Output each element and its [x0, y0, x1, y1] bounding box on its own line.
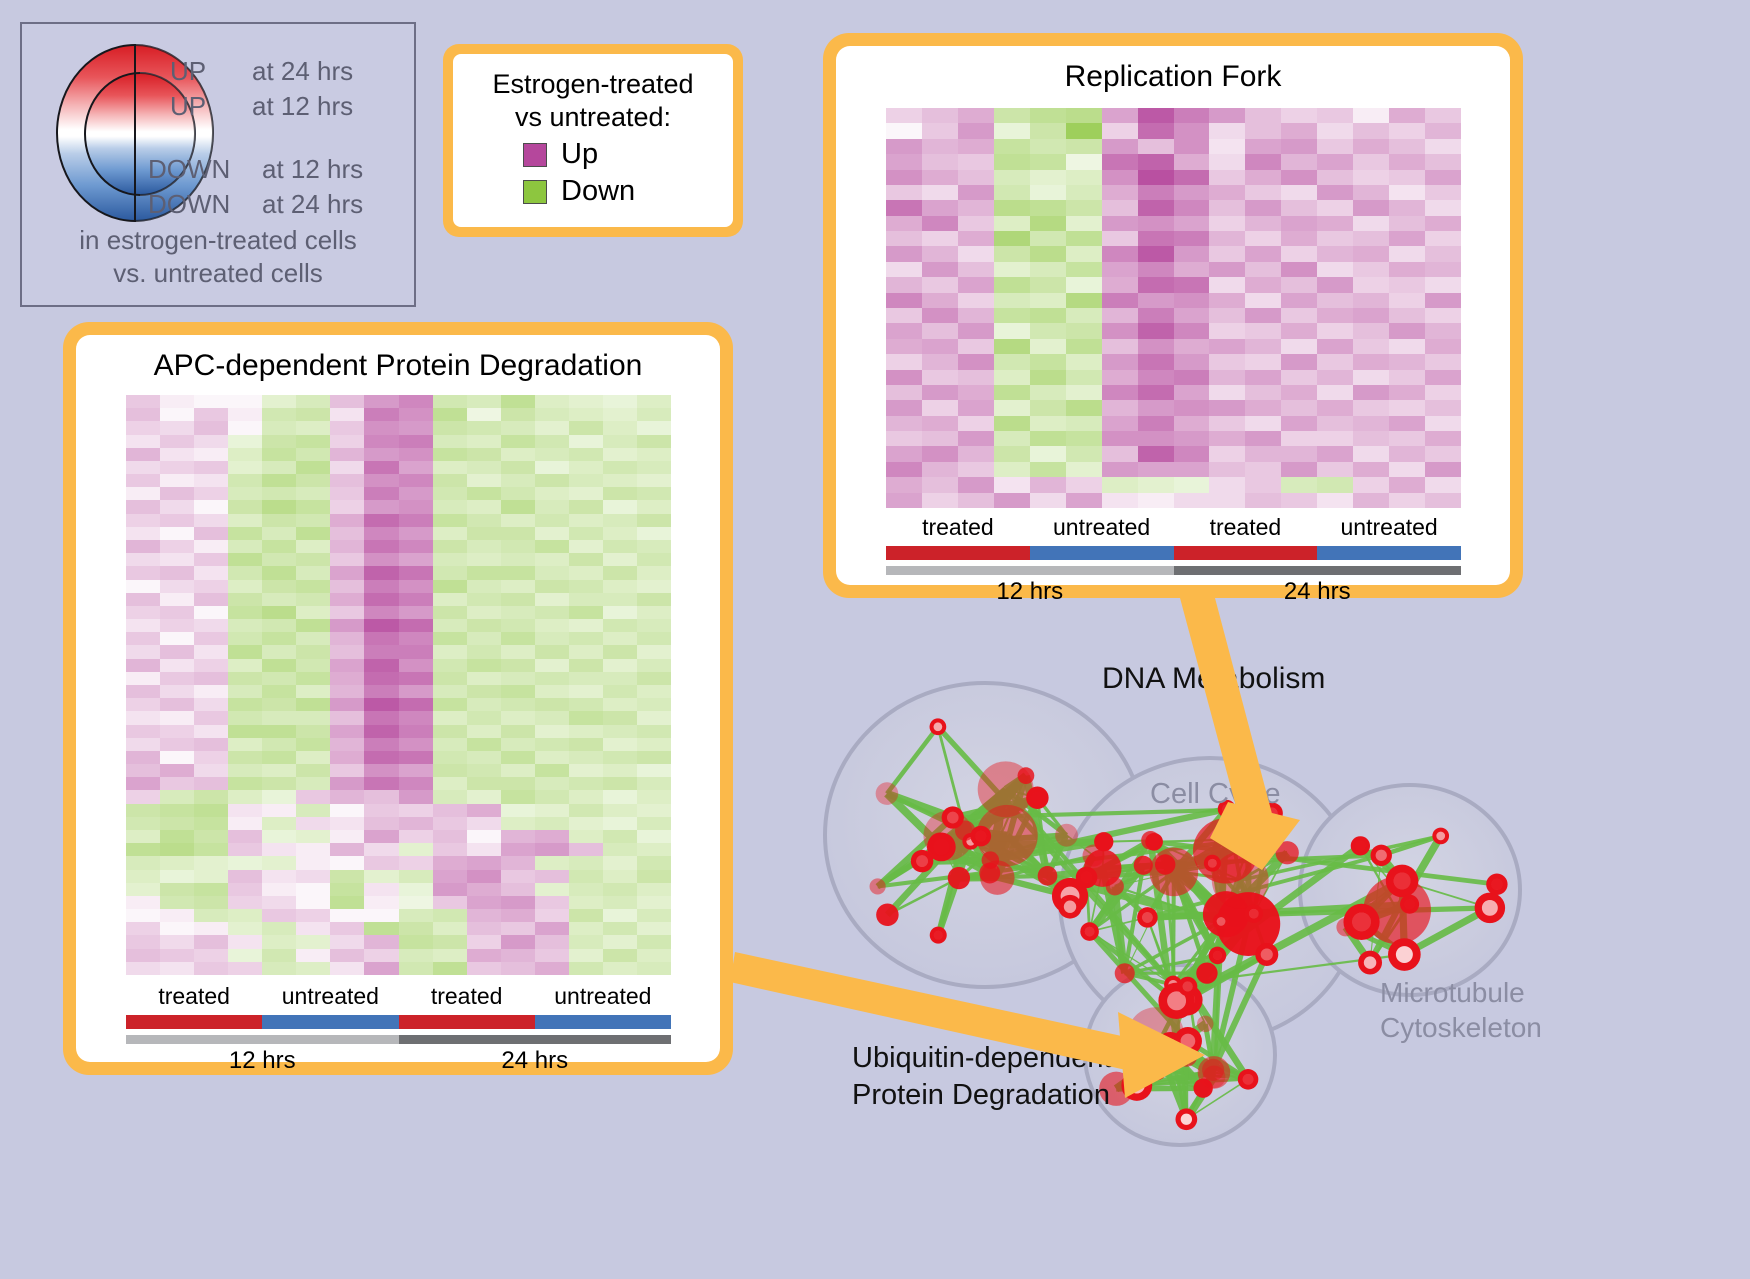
heatmap-cell — [886, 154, 922, 169]
heatmap-cell — [1389, 246, 1425, 261]
heatmap-cell — [399, 606, 433, 619]
heatmap-cell — [126, 698, 160, 711]
heatmap-cell — [126, 738, 160, 751]
heatmap-cell — [262, 922, 296, 935]
heatmap-cell — [994, 385, 1030, 400]
heatmap-cell — [330, 883, 364, 896]
heatmap-cell — [160, 580, 194, 593]
heatmap-cell — [262, 408, 296, 421]
heatmap-cell — [126, 527, 160, 540]
heatmap-cell — [1317, 246, 1353, 261]
heatmap-cell — [228, 448, 262, 461]
heatmap-cell — [228, 540, 262, 553]
heatmap-cell — [1138, 293, 1174, 308]
heatmap-cell — [296, 870, 330, 883]
heatmap-cell — [160, 883, 194, 896]
heatmap-cell — [194, 645, 228, 658]
heatmap-cell — [399, 856, 433, 869]
heatmap-cell — [296, 856, 330, 869]
heatmap-cell — [886, 385, 922, 400]
heatmap-cell — [1281, 139, 1317, 154]
heatmap-cell — [637, 909, 671, 922]
heatmap-cell — [569, 474, 603, 487]
heatmap-cell — [603, 566, 637, 579]
heatmap-cell — [1030, 231, 1066, 246]
heatmap-cell — [1281, 123, 1317, 138]
heatmap-cell — [1281, 493, 1317, 508]
heatmap-cell — [603, 725, 637, 738]
heatmap-cell — [1281, 370, 1317, 385]
heatmap-cell — [399, 711, 433, 724]
network-node — [1038, 866, 1058, 886]
heatmap-cell — [1030, 354, 1066, 369]
heatmap-cell — [296, 764, 330, 777]
cluster-label-ubiquitin: Ubiquitin-dependent Protein Degradation — [852, 1040, 1112, 1114]
heatmap-cell — [228, 645, 262, 658]
heatmap-cell — [922, 170, 958, 185]
network-node — [1212, 852, 1269, 909]
heatmap-cell — [1102, 308, 1138, 323]
heatmap-cell — [364, 764, 398, 777]
updown-legend-title: Estrogen-treated vs untreated: — [463, 68, 723, 134]
heatmap-cell — [262, 500, 296, 513]
heatmap-cell — [330, 870, 364, 883]
heatmap-cell — [569, 751, 603, 764]
heatmap-cell — [922, 446, 958, 461]
heatmap-cell — [228, 764, 262, 777]
heatmap-cell — [228, 935, 262, 948]
network-node — [1150, 1040, 1167, 1057]
heatmap-cell — [535, 870, 569, 883]
heatmap-cell — [637, 751, 671, 764]
heatmap-cell — [160, 461, 194, 474]
heatmap-cell — [501, 672, 535, 685]
heatmap-cell — [228, 500, 262, 513]
heatmap-cell — [603, 606, 637, 619]
heatmap-cell — [637, 527, 671, 540]
heatmap-cell — [262, 777, 296, 790]
heatmap-cell — [126, 645, 160, 658]
heatmap-cell — [1102, 139, 1138, 154]
network-node — [1276, 841, 1299, 864]
heatmap-cell — [262, 698, 296, 711]
heatmap-cell — [1245, 262, 1281, 277]
heatmap-cell — [1389, 339, 1425, 354]
heatmap-cell — [399, 619, 433, 632]
heatmap-cell — [330, 645, 364, 658]
heatmap-cell — [194, 474, 228, 487]
heatmap-cell — [922, 308, 958, 323]
heatmap-cell — [296, 830, 330, 843]
heatmap-cell — [1353, 108, 1389, 123]
network-node — [1394, 872, 1411, 889]
heatmap-cell — [994, 123, 1030, 138]
heatmap-cell — [1138, 262, 1174, 277]
heatmap-cell — [958, 354, 994, 369]
heatmap-cell — [433, 593, 467, 606]
heatmap-cell — [126, 935, 160, 948]
heatmap-cell — [501, 540, 535, 553]
heatmap-cell — [501, 514, 535, 527]
heatmap-cell — [126, 659, 160, 672]
heatmap-cell — [637, 856, 671, 869]
heatmap-cell — [1138, 370, 1174, 385]
heatmap-cell — [535, 553, 569, 566]
heatmap-cell — [1209, 416, 1245, 431]
heatmap-cell — [467, 698, 501, 711]
heatmap-cell — [194, 540, 228, 553]
heatmap-cell — [1102, 339, 1138, 354]
heatmap-cell — [1030, 170, 1066, 185]
heatmap-cell — [637, 698, 671, 711]
heatmap-cell — [1281, 308, 1317, 323]
heatmap-cell — [1317, 354, 1353, 369]
heatmap-cell — [886, 354, 922, 369]
heatmap-cell — [194, 672, 228, 685]
heatmap-cell — [569, 870, 603, 883]
heatmap-cell — [228, 461, 262, 474]
heatmap-cell — [228, 949, 262, 962]
heatmap-cell — [958, 370, 994, 385]
network-node — [1482, 900, 1498, 916]
heatmap-cell — [886, 108, 922, 123]
heatmap-cell — [535, 935, 569, 948]
heatmap-cell — [637, 883, 671, 896]
network-node — [1151, 1065, 1162, 1076]
heatmap-cell — [501, 751, 535, 764]
heatmap-cell — [886, 277, 922, 292]
heatmap-cell — [399, 408, 433, 421]
heatmap-cell — [126, 804, 160, 817]
heatmap-cell — [994, 200, 1030, 215]
heatmap-cell — [467, 711, 501, 724]
heatmap-cell — [296, 606, 330, 619]
heatmap-cell — [1281, 108, 1317, 123]
heatmap-cell — [228, 909, 262, 922]
heatmap-cell — [637, 606, 671, 619]
heatmap-cell — [501, 725, 535, 738]
heatmap-cell — [364, 461, 398, 474]
heatmap-cell — [262, 935, 296, 948]
heatmap-cell — [296, 909, 330, 922]
heatmap-cell — [1174, 200, 1210, 215]
heatmap-cell — [399, 883, 433, 896]
heatmap-cell — [126, 790, 160, 803]
heatmap-cell — [1389, 277, 1425, 292]
heatmap-cell — [501, 935, 535, 948]
heatmap-cell — [1425, 262, 1461, 277]
heatmap-cell — [160, 632, 194, 645]
heatmap-cell — [330, 395, 364, 408]
heatmap-cell — [262, 896, 296, 909]
heatmap-cell — [433, 659, 467, 672]
network-node — [1094, 832, 1113, 851]
heatmap-cell — [994, 400, 1030, 415]
heatmap-cell — [364, 790, 398, 803]
heatmap-cell — [126, 395, 160, 408]
heatmap-cell — [501, 448, 535, 461]
heatmap-cell — [160, 764, 194, 777]
heatmap-cell — [262, 856, 296, 869]
heatmap-cell — [637, 922, 671, 935]
heatmap-cell — [1102, 354, 1138, 369]
heatmap-cell — [1138, 385, 1174, 400]
heatmap-cell — [1102, 277, 1138, 292]
heatmap-cell — [262, 949, 296, 962]
heatmap-cell — [1138, 123, 1174, 138]
replication-fork-treatment-bar — [886, 546, 1461, 560]
heatmap-cell — [1425, 154, 1461, 169]
heatmap-cell — [126, 448, 160, 461]
heatmap-cell — [126, 500, 160, 513]
heatmap-cell — [126, 606, 160, 619]
heatmap-cell — [399, 804, 433, 817]
heatmap-cell — [501, 764, 535, 777]
heatmap-cell — [994, 246, 1030, 261]
heatmap-cell — [126, 632, 160, 645]
heatmap-cell — [501, 856, 535, 869]
heatmap-cell — [569, 540, 603, 553]
heatmap-cell — [1209, 477, 1245, 492]
network-node — [928, 832, 952, 856]
heatmap-cell — [1317, 123, 1353, 138]
heatmap-cell — [535, 566, 569, 579]
heatmap-cell — [296, 580, 330, 593]
heatmap-cell — [467, 645, 501, 658]
heatmap-cell — [160, 843, 194, 856]
heatmap-cell — [1209, 385, 1245, 400]
heatmap-cell — [637, 830, 671, 843]
heatmap-cell — [364, 448, 398, 461]
heatmap-cell — [330, 922, 364, 935]
heatmap-cell — [886, 139, 922, 154]
heatmap-cell — [1317, 154, 1353, 169]
heatmap-cell — [194, 804, 228, 817]
heatmap-cell — [399, 500, 433, 513]
heatmap-cell — [1353, 462, 1389, 477]
heatmap-cell — [637, 487, 671, 500]
heatmap-cell — [296, 448, 330, 461]
heatmap-cell — [922, 400, 958, 415]
heatmap-cell — [535, 672, 569, 685]
heatmap-cell — [603, 738, 637, 751]
network-node — [916, 855, 928, 867]
heatmap-cell — [569, 962, 603, 975]
heatmap-cell — [364, 962, 398, 975]
heatmap-cell — [194, 751, 228, 764]
heatmap-cell — [1389, 185, 1425, 200]
heatmap-cell — [1353, 370, 1389, 385]
heatmap-cell — [194, 566, 228, 579]
heatmap-cell — [1389, 446, 1425, 461]
heatmap-cell — [958, 431, 994, 446]
heatmap-cell — [433, 500, 467, 513]
heatmap-cell — [603, 817, 637, 830]
updown-title-line2: vs untreated: — [463, 101, 723, 134]
heatmap-cell — [1425, 416, 1461, 431]
heatmap-cell — [194, 461, 228, 474]
heatmap-cell — [467, 619, 501, 632]
heatmap-cell — [1317, 185, 1353, 200]
heatmap-cell — [330, 514, 364, 527]
heatmap-cell — [1353, 216, 1389, 231]
heatmap-cell — [535, 777, 569, 790]
heatmap-cell — [958, 154, 994, 169]
heatmap-cell — [296, 738, 330, 751]
heatmap-cell — [1174, 416, 1210, 431]
heatmap-cell — [958, 108, 994, 123]
heatmap-cell — [160, 738, 194, 751]
heatmap-cell — [194, 619, 228, 632]
heatmap-cell — [126, 421, 160, 434]
heatmap-cell — [262, 514, 296, 527]
heatmap-cell — [1245, 493, 1281, 508]
heatmap-cell — [922, 262, 958, 277]
heatmap-cell — [160, 474, 194, 487]
heatmap-cell — [433, 909, 467, 922]
heatmap-cell — [637, 817, 671, 830]
network-node — [1196, 962, 1217, 983]
heatmap-cell — [1245, 416, 1281, 431]
heatmap-cell — [1281, 262, 1317, 277]
heatmap-cell — [1102, 446, 1138, 461]
heatmap-cell — [1425, 308, 1461, 323]
heatmap-cell — [637, 461, 671, 474]
heatmap-cell — [1066, 323, 1102, 338]
heatmap-cell — [399, 817, 433, 830]
cluster-label-microtubule: Microtubule Cytoskeleton — [1380, 975, 1542, 1045]
heatmap-cell — [467, 817, 501, 830]
ring-keyword-down12: DOWN — [148, 154, 230, 185]
heatmap-cell — [1209, 400, 1245, 415]
heatmap-cell — [501, 949, 535, 962]
heatmap-cell — [1317, 200, 1353, 215]
heatmap-cell — [433, 751, 467, 764]
heatmap-cell — [433, 777, 467, 790]
heatmap-cell — [433, 632, 467, 645]
heatmap-cell — [1317, 370, 1353, 385]
heatmap-cell — [1353, 139, 1389, 154]
heatmap-cell — [228, 632, 262, 645]
heatmap-cell — [501, 962, 535, 975]
heatmap-cell — [126, 856, 160, 869]
heatmap-cell — [228, 580, 262, 593]
heatmap-cell — [922, 123, 958, 138]
heatmap-cell — [262, 553, 296, 566]
heatmap-cell — [569, 698, 603, 711]
heatmap-cell — [262, 725, 296, 738]
heatmap-cell — [160, 830, 194, 843]
heatmap-cell — [296, 553, 330, 566]
heatmap-cell — [1389, 431, 1425, 446]
heatmap-cell — [1066, 293, 1102, 308]
heatmap-cell — [160, 935, 194, 948]
heatmap-cell — [433, 843, 467, 856]
heatmap-cell — [958, 139, 994, 154]
heatmap-cell — [262, 461, 296, 474]
heatmap-cell — [1209, 246, 1245, 261]
heatmap-cell — [1174, 139, 1210, 154]
heatmap-cell — [1353, 477, 1389, 492]
heatmap-cell — [1030, 154, 1066, 169]
heatmap-cell — [1138, 431, 1174, 446]
heatmap-cell — [501, 790, 535, 803]
network-node — [1085, 927, 1095, 937]
heatmap-cell — [958, 277, 994, 292]
heatmap-cell — [1066, 216, 1102, 231]
heatmap-cell — [958, 200, 994, 215]
heatmap-cell — [535, 593, 569, 606]
heatmap-cell — [1174, 385, 1210, 400]
heatmap-cell — [501, 580, 535, 593]
heatmap-cell — [433, 817, 467, 830]
heatmap-cell — [296, 935, 330, 948]
heatmap-cell — [296, 883, 330, 896]
apc-title: APC-dependent Protein Degradation — [76, 349, 720, 383]
heatmap-cell — [194, 843, 228, 856]
heatmap-cell — [296, 725, 330, 738]
heatmap-cell — [1245, 339, 1281, 354]
heatmap-cell — [501, 645, 535, 658]
heatmap-cell — [958, 185, 994, 200]
heatmap-cell — [126, 922, 160, 935]
heatmap-cell — [194, 764, 228, 777]
heatmap-cell — [1174, 400, 1210, 415]
heatmap-cell — [467, 790, 501, 803]
heatmap-cell — [126, 672, 160, 685]
heatmap-cell — [637, 580, 671, 593]
heatmap-cell — [501, 527, 535, 540]
heatmap-cell — [433, 395, 467, 408]
network-node — [1181, 1034, 1196, 1049]
heatmap-cell — [958, 416, 994, 431]
heatmap-cell — [433, 856, 467, 869]
ring-legend-caption: in estrogen-treated cells vs. untreated … — [22, 224, 414, 290]
heatmap-cell — [399, 448, 433, 461]
heatmap-cell — [1066, 262, 1102, 277]
heatmap-cell — [364, 421, 398, 434]
heatmap-cell — [399, 685, 433, 698]
heatmap-cell — [262, 421, 296, 434]
ring-keyword-up24: UP — [170, 56, 206, 87]
heatmap-cell — [1066, 370, 1102, 385]
heatmap-cell — [1389, 139, 1425, 154]
heatmap-cell — [262, 790, 296, 803]
heatmap-cell — [1425, 277, 1461, 292]
heatmap-cell — [1066, 246, 1102, 261]
heatmap-cell — [1353, 185, 1389, 200]
heatmap-cell — [228, 843, 262, 856]
heatmap-cell — [1353, 277, 1389, 292]
heatmap-cell — [535, 856, 569, 869]
heatmap-cell — [886, 446, 922, 461]
heatmap-cell — [922, 154, 958, 169]
heatmap-cell — [1174, 123, 1210, 138]
heatmap-cell — [296, 790, 330, 803]
time-bar-segment — [399, 1035, 672, 1044]
heatmap-cell — [569, 738, 603, 751]
heatmap-cell — [637, 540, 671, 553]
heatmap-cell — [364, 593, 398, 606]
heatmap-cell — [126, 566, 160, 579]
heatmap-cell — [603, 553, 637, 566]
heatmap-cell — [330, 685, 364, 698]
heatmap-cell — [886, 339, 922, 354]
heatmap-cell — [603, 777, 637, 790]
heatmap-cell — [228, 817, 262, 830]
heatmap-replication-fork — [886, 108, 1461, 508]
heatmap-cell — [126, 949, 160, 962]
